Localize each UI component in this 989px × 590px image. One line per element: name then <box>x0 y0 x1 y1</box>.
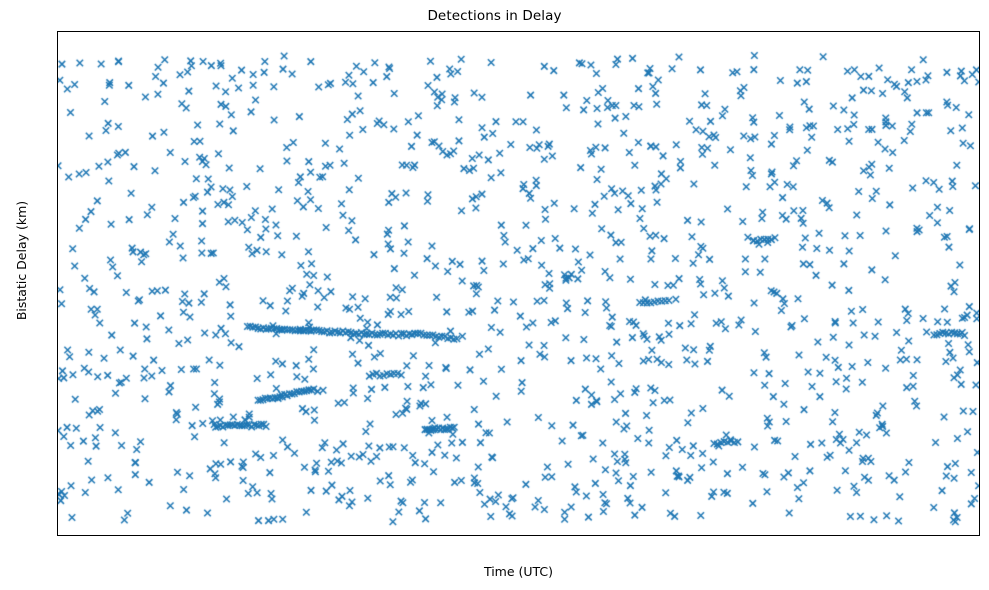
x-tick-mark <box>785 535 786 536</box>
y-tick-mark <box>57 443 58 444</box>
y-tick-mark <box>57 210 58 211</box>
y-tick-mark <box>57 288 58 289</box>
figure-canvas: Detections in Delay 0102030405060 2025-1… <box>0 0 989 590</box>
x-tick-mark <box>944 535 945 536</box>
y-tick-mark <box>57 521 58 522</box>
y-tick-mark <box>57 366 58 367</box>
x-axis-label: Time (UTC) <box>57 564 980 579</box>
x-tick-mark <box>626 535 627 536</box>
y-tick-mark <box>57 132 58 133</box>
plot-area: 0102030405060 2025-12-30 19:37:002025-12… <box>57 31 980 536</box>
y-tick-mark <box>57 55 58 56</box>
page-title: Detections in Delay <box>0 8 989 24</box>
x-tick-mark <box>467 535 468 536</box>
x-tick-mark <box>308 535 309 536</box>
y-axis-label: Bistatic Delay (km) <box>14 8 29 513</box>
scatter-series-detections <box>58 32 979 535</box>
